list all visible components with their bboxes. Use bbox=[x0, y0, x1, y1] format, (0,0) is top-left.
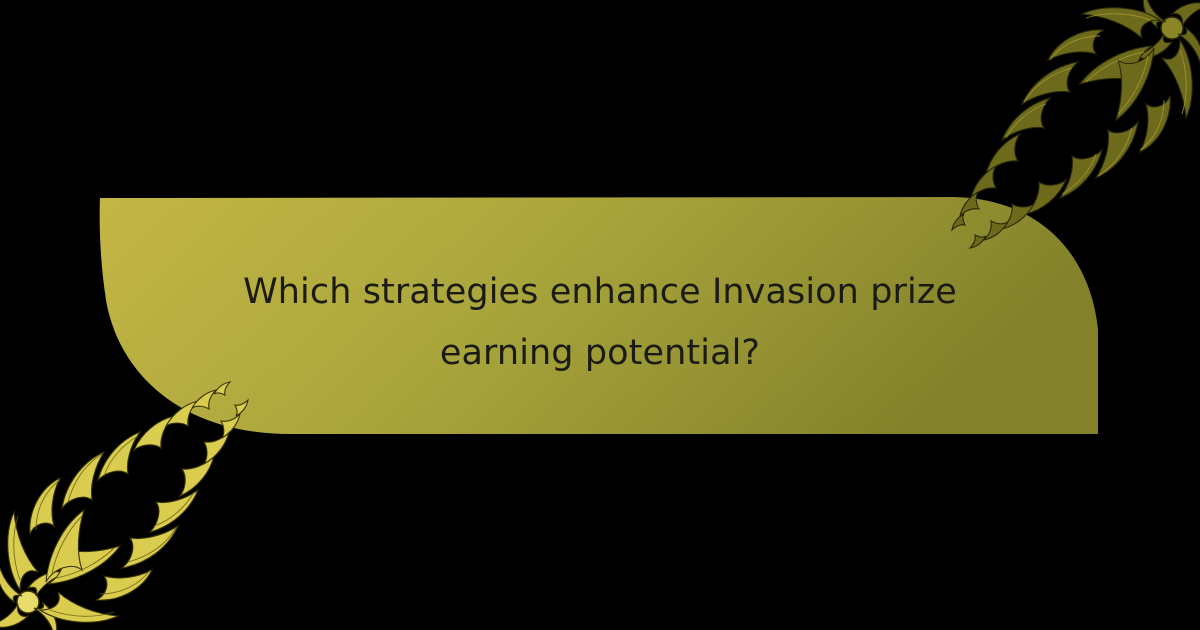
page-title: Which strategies enhance Invasion prize … bbox=[190, 262, 1010, 384]
poster-canvas: Which strategies enhance Invasion prize … bbox=[0, 0, 1200, 630]
